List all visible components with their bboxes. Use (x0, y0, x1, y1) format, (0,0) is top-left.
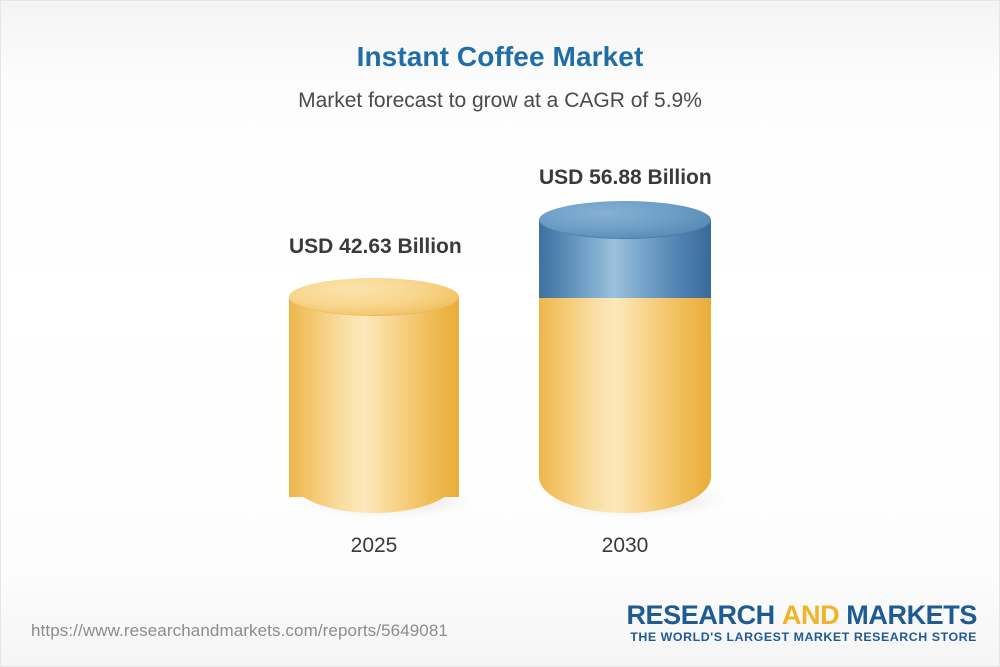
logo-wordmark: RESEARCH AND MARKETS (626, 601, 977, 629)
bar-2030[interactable] (539, 201, 711, 513)
logo-word-markets: MARKETS (846, 600, 977, 630)
bar-2025[interactable] (289, 278, 459, 513)
logo-word-research: RESEARCH (626, 600, 774, 630)
value-label-2030: USD 56.88 Billion (539, 166, 711, 190)
logo-word-and: AND (782, 600, 839, 630)
category-label-2030: 2030 (539, 534, 711, 558)
chart-canvas: Instant Coffee Market Market forecast to… (0, 0, 1000, 667)
brand-logo[interactable]: RESEARCH AND MARKETS THE WORLD'S LARGEST… (626, 601, 977, 645)
category-label-2025: 2025 (289, 534, 459, 558)
bar-2025-base-segment (289, 297, 459, 497)
source-url[interactable]: https://www.researchandmarkets.com/repor… (31, 621, 448, 641)
bar-2030-top-cap (539, 201, 711, 239)
value-label-2025: USD 42.63 Billion (289, 235, 461, 259)
logo-tagline: THE WORLD'S LARGEST MARKET RESEARCH STOR… (626, 631, 977, 645)
bar-2030-base-segment (539, 298, 711, 477)
plot-area: USD 42.63 Billion 2025 USD 56.88 Billion (1, 1, 1000, 667)
bar-2025-top-cap (289, 278, 459, 316)
